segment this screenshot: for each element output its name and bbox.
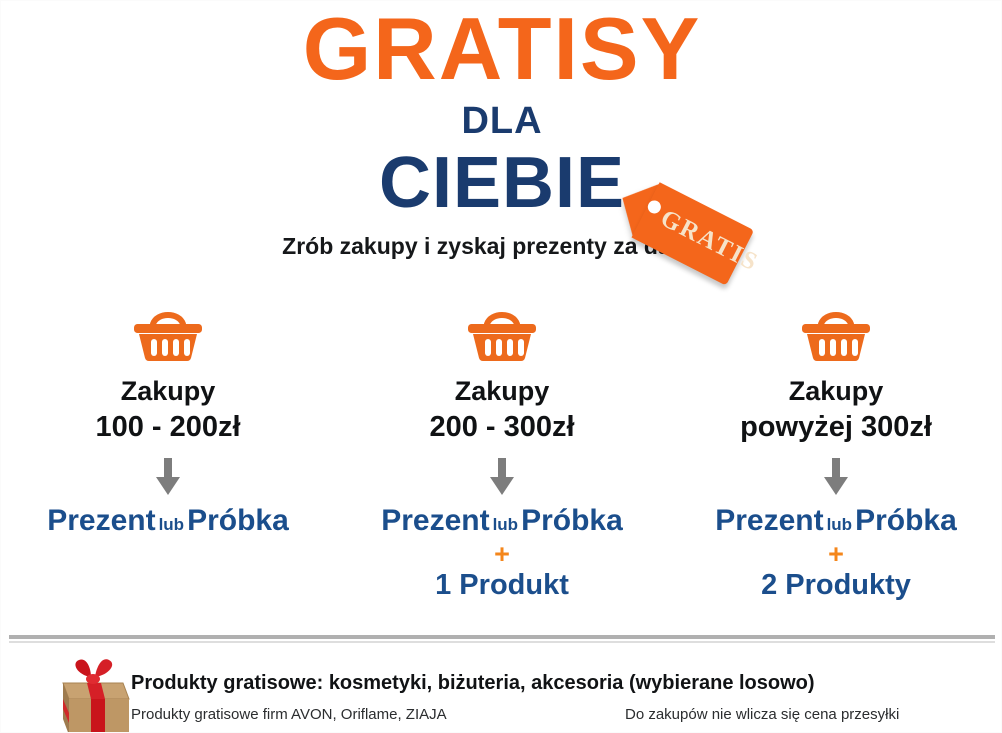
gift-box-icon [47, 655, 139, 733]
reward-second: Próbka [855, 504, 957, 537]
reward-conjunction: lub [824, 515, 856, 534]
shopping-basket-icon [131, 306, 205, 362]
arrow-down-icon [153, 458, 183, 496]
tier-column: Zakupy powyżej 300zł PrezentlubPróbka + … [669, 306, 1002, 626]
title-dla: DLA [1, 102, 1002, 140]
tier-label: Zakupy [669, 374, 1002, 409]
reward-first: Prezent [381, 504, 489, 537]
tier-label: Zakupy [335, 374, 669, 409]
tier-column: Zakupy 200 - 300zł PrezentlubPróbka + 1 … [335, 306, 669, 626]
tier-amount: 200 - 300zł [335, 409, 669, 446]
tier-extra: 2 Produkty [669, 569, 1002, 602]
tier-list: Zakupy 100 - 200zł PrezentlubPróbka [1, 306, 1002, 626]
arrow-down-icon [487, 458, 517, 496]
tier-amount: powyżej 300zł [669, 409, 1002, 446]
tier-column: Zakupy 100 - 200zł PrezentlubPróbka [1, 306, 335, 626]
arrow-down-icon [821, 458, 851, 496]
title-ciebie: CIEBIE [1, 147, 1002, 219]
promo-banner: GRATISY DLA CIEBIE Zrób zakupy i zyskaj … [0, 0, 1002, 733]
footer-section: Produkty gratisowe: kosmetyki, biżuteria… [1, 649, 1002, 733]
footer-shipping-note: Do zakupów nie wlicza się cena przesyłki [625, 707, 899, 722]
shopping-basket-icon [465, 306, 539, 362]
tier-reward: PrezentlubPróbka [669, 504, 1002, 539]
tier-amount: 100 - 200zł [1, 409, 335, 446]
tier-reward: PrezentlubPróbka [335, 504, 669, 539]
reward-first: Prezent [715, 504, 823, 537]
tier-plus: + [669, 539, 1002, 569]
tier-plus: + [335, 539, 669, 569]
footer-brands-note: Produkty gratisowe firm AVON, Oriflame, … [131, 707, 447, 722]
reward-second: Próbka [521, 504, 623, 537]
divider-shadow [9, 641, 995, 643]
hero-section: GRATISY DLA CIEBIE Zrób zakupy i zyskaj … [1, 1, 1002, 291]
tier-label: Zakupy [1, 374, 335, 409]
reward-second: Próbka [187, 504, 289, 537]
reward-conjunction: lub [156, 515, 188, 534]
subtitle: Zrób zakupy i zyskaj prezenty za darmo! [1, 235, 1002, 258]
tier-reward: PrezentlubPróbka [1, 504, 335, 539]
gratis-tag: GRATIS [613, 153, 773, 278]
divider [9, 635, 995, 639]
reward-conjunction: lub [490, 515, 522, 534]
footer-main-note: Produkty gratisowe: kosmetyki, biżuteria… [131, 673, 815, 693]
tier-extra: 1 Produkt [335, 569, 669, 602]
page-title: GRATISY [1, 5, 1002, 93]
reward-first: Prezent [47, 504, 155, 537]
shopping-basket-icon [799, 306, 873, 362]
